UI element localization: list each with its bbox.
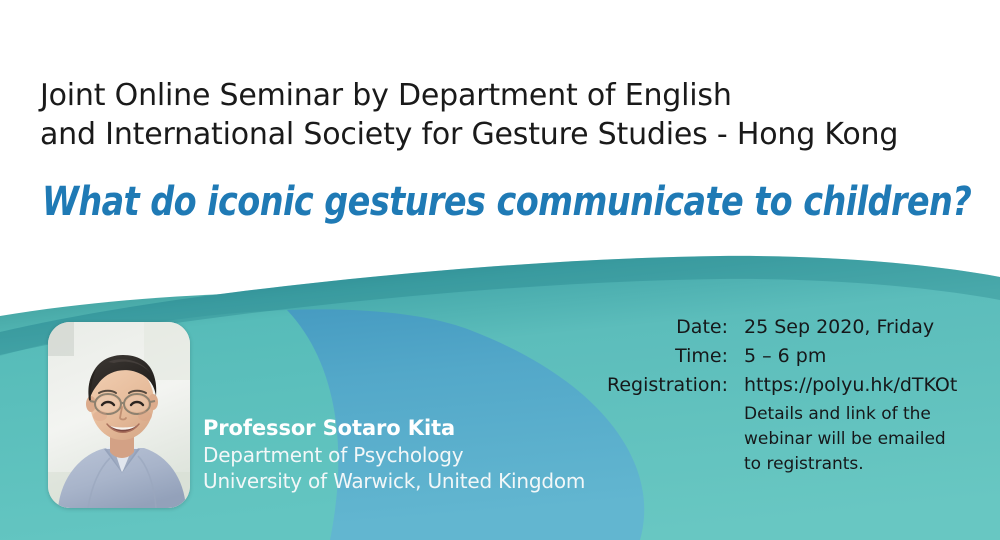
seminar-poster: Joint Online Seminar by Department of En… [0, 0, 1000, 540]
speaker-info: Professor Sotaro Kita Department of Psyc… [203, 415, 585, 494]
detail-row-date: Date: 25 Sep 2020, Friday [600, 314, 970, 340]
speaker-department: Department of Psychology [203, 442, 585, 468]
detail-row-time: Time: 5 – 6 pm [600, 343, 970, 369]
registration-label: Registration: [600, 372, 744, 398]
registration-url[interactable]: https://polyu.hk/dTKOt [744, 372, 957, 398]
speaker-name: Professor Sotaro Kita [203, 415, 585, 442]
speaker-photo [48, 322, 190, 508]
seminar-heading: Joint Online Seminar by Department of En… [40, 76, 970, 154]
event-details: Date: 25 Sep 2020, Friday Time: 5 – 6 pm… [600, 314, 970, 477]
time-label: Time: [600, 343, 744, 369]
heading-line-1: Joint Online Seminar by Department of En… [40, 76, 970, 115]
seminar-title: What do iconic gestures communicate to c… [42, 177, 971, 227]
date-value: 25 Sep 2020, Friday [744, 314, 934, 340]
portrait-image [48, 322, 190, 508]
time-value: 5 – 6 pm [744, 343, 826, 369]
speaker-institution: University of Warwick, United Kingdom [203, 468, 585, 494]
registration-note: Details and link of the webinar will be … [744, 402, 959, 477]
heading-line-2: and International Society for Gesture St… [40, 115, 970, 154]
date-label: Date: [600, 314, 744, 340]
detail-row-registration: Registration: https://polyu.hk/dTKOt [600, 372, 970, 398]
